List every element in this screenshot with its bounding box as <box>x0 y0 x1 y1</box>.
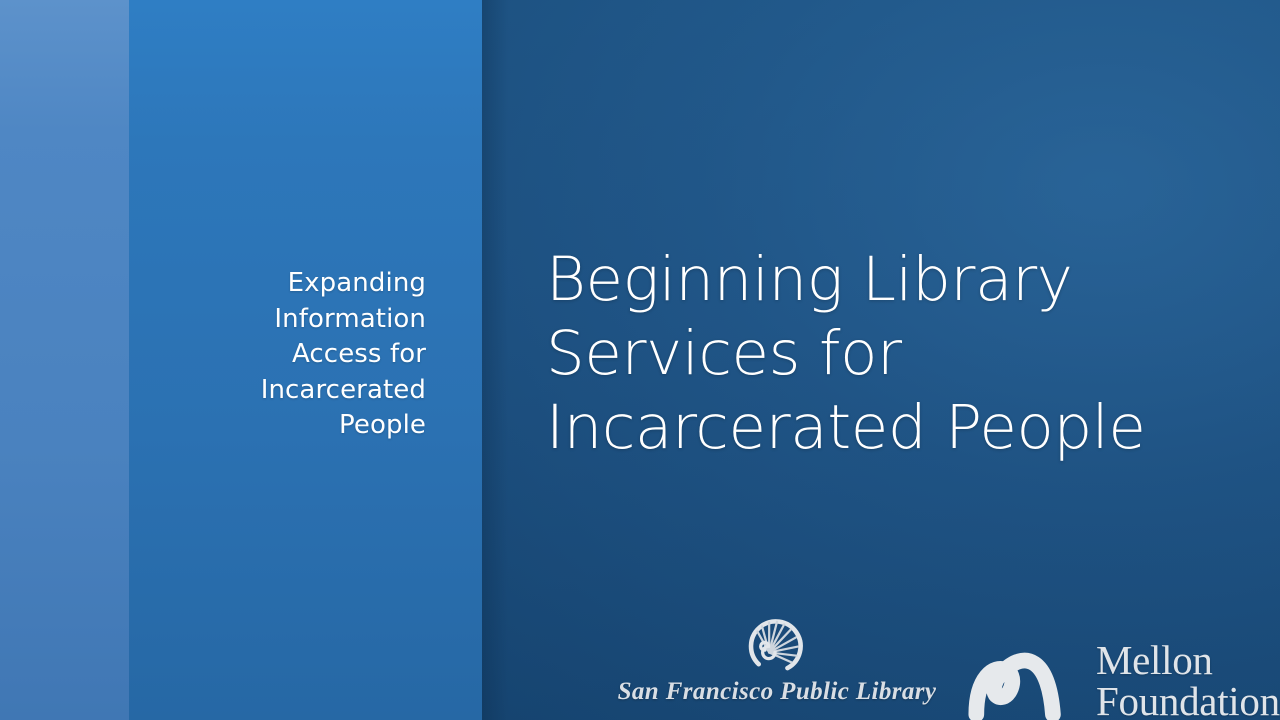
presentation-slide: Expanding Information Access for Incarce… <box>0 0 1280 720</box>
background-band-light <box>0 0 129 720</box>
sfpl-logo: San Francisco Public Library <box>612 612 942 706</box>
mellon-squiggle-m-icon <box>968 646 1088 720</box>
mellon-wordmark: Mellon Foundation <box>1096 640 1280 720</box>
sfpl-shell-spiral-icon <box>743 612 811 672</box>
mellon-foundation-logo: Mellon Foundation <box>968 640 1280 720</box>
sfpl-wordmark: San Francisco Public Library <box>612 678 942 706</box>
slide-title: Beginning Library Services for Incarcera… <box>546 243 1246 465</box>
slide-sidebar-subtitle: Expanding Information Access for Incarce… <box>170 266 426 444</box>
